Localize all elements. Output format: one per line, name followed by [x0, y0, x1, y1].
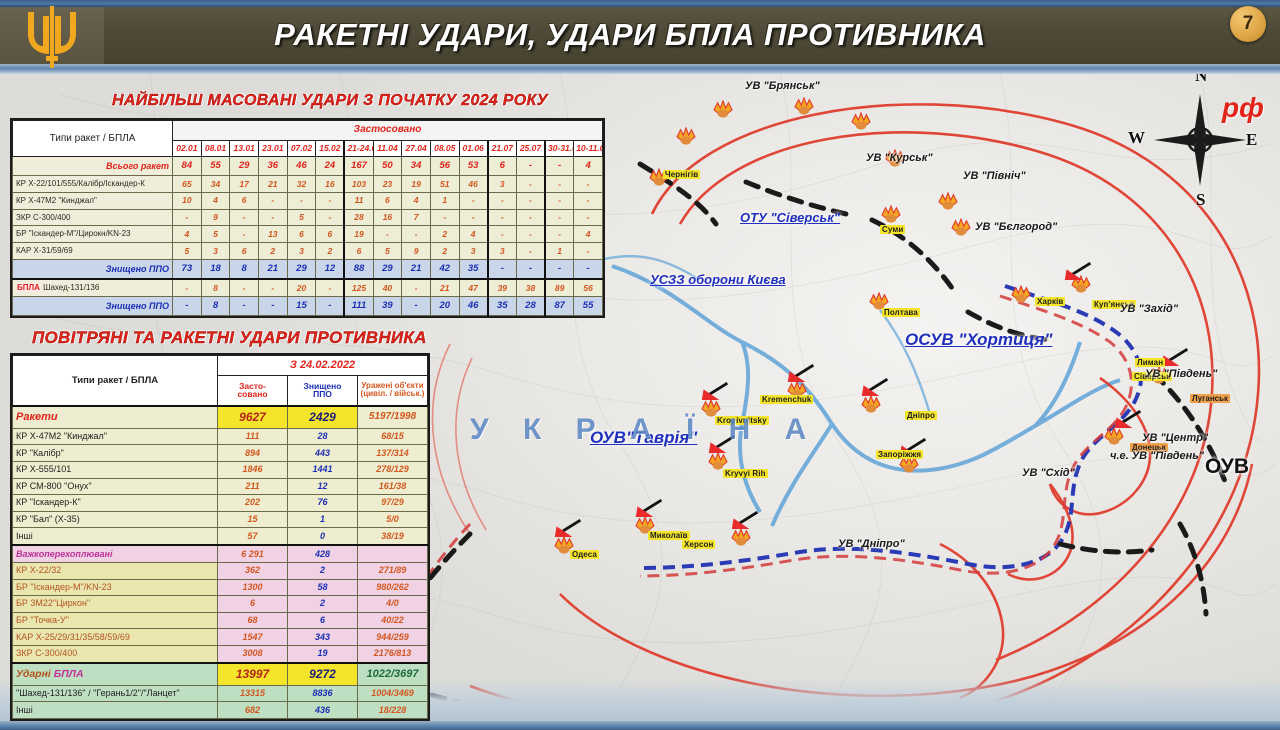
table2-cell-objects: 1004/3469 — [358, 685, 428, 702]
table1-cell: 9 — [201, 209, 230, 226]
table2-row-label: Інші — [13, 702, 218, 719]
table1-cell: - — [287, 192, 316, 209]
table1: Типи ракет / БПЛАЗастосовано02.0108.0113… — [12, 120, 603, 316]
table1-row: ЗКР С-300/400-9--5-28167------ — [13, 209, 603, 226]
table2-cell-applied: 15 — [218, 511, 288, 528]
table2-cell-objects: 4/0 — [358, 596, 428, 613]
table1-cell: 8 — [201, 297, 230, 316]
table1-cell: 3 — [459, 243, 488, 260]
table1-cell: 16 — [373, 209, 402, 226]
table1-cell: - — [516, 226, 545, 243]
table1-cell: 4 — [574, 157, 603, 176]
city-label: Одеса — [570, 544, 599, 562]
table1-cell: 18 — [201, 260, 230, 280]
enemy-group-label: УВ "Дніпро" — [838, 538, 905, 550]
table1-row: БР "Іскандер-М"/Цирокн/KN-2345-136619--2… — [13, 226, 603, 243]
page-title: РАКЕТНІ УДАРИ, УДАРИ БПЛА ПРОТИВНИКА — [180, 13, 1080, 59]
table1-cell: 42 — [430, 260, 459, 280]
table1-col-header: 07.02 — [287, 140, 316, 157]
table1-row-label: КР Х-47М2 "Кинджал" — [13, 192, 173, 209]
table1-cell: 5 — [173, 243, 202, 260]
table1-row-label: ЗКР С-300/400 — [13, 209, 173, 226]
strike-marker-icon — [1010, 285, 1030, 301]
table2-cell-objects: 38/19 — [358, 528, 428, 545]
table1-cell: 2 — [430, 226, 459, 243]
table1-cell: 19 — [344, 226, 373, 243]
table2-row-label: КР "Калібр" — [13, 445, 218, 462]
table1-cell: - — [545, 209, 574, 226]
table2-cell-destroyed: 343 — [288, 629, 358, 646]
table2-section-header: Ракети962724295197/1998 — [13, 406, 428, 428]
table2-section-applied: 13997 — [218, 663, 288, 685]
table2-row-label: КР Х-555/101 — [13, 462, 218, 479]
table1-cell: 6 — [287, 226, 316, 243]
table1-cell: - — [545, 226, 574, 243]
table1-row: КР Х-22/101/555/Калібр/Іскандер-К6534172… — [13, 175, 603, 192]
table2-section-applied: 9627 — [218, 406, 288, 428]
table1-cell: - — [373, 226, 402, 243]
table2-row: КР Х-22/323622271/89 — [13, 563, 428, 580]
table1-col-header: 08.01 — [201, 140, 230, 157]
table1-cell: - — [258, 192, 287, 209]
table1-cell: 6 — [488, 157, 517, 176]
table2-section-objects: 5197/1998 — [358, 406, 428, 428]
table1-col-header: 08.05 — [430, 140, 459, 157]
table1-col-header: 13.01 — [230, 140, 259, 157]
table1-cell: 9 — [402, 243, 431, 260]
table1-col-header: 21-24.03 — [344, 140, 373, 157]
table1-cell: 51 — [430, 175, 459, 192]
table1-cell: 24 — [316, 157, 345, 176]
table2: Типи ракет / БПЛАЗ 24.02.2022Засто-сован… — [12, 355, 428, 719]
table2-row: КР Х-555/10118461441278/129 — [13, 462, 428, 479]
table1-cell: 38 — [516, 279, 545, 297]
city-label: Харків — [1035, 291, 1065, 309]
table1-col-header: 25.07 — [516, 140, 545, 157]
unit-flag-icon — [786, 364, 812, 382]
table1-cell: 29 — [230, 157, 259, 176]
enemy-group-label: УВ "Бєлгород" — [975, 221, 1057, 233]
table1-col-header: 23.01 — [258, 140, 287, 157]
table1-cell: 21 — [402, 260, 431, 280]
table1-cell: 46 — [459, 175, 488, 192]
table1-row: КАР Х-31/59/69536232659233-1- — [13, 243, 603, 260]
table1-cell: 12 — [316, 260, 345, 280]
table1-cell: 16 — [316, 175, 345, 192]
table1-col-header: 11.04 — [373, 140, 402, 157]
table1-cell: 5 — [373, 243, 402, 260]
enemy-group-label: УВ "Схід" — [1022, 467, 1075, 479]
table1-cell: 87 — [545, 297, 574, 316]
table1-cell: - — [230, 279, 259, 297]
table1-cell: 5 — [201, 226, 230, 243]
table2-cell-applied: 68 — [218, 612, 288, 629]
table1-cell: - — [516, 260, 545, 280]
table1-cell: 55 — [201, 157, 230, 176]
table1-cell: 3 — [488, 243, 517, 260]
table1-cell: 23 — [373, 175, 402, 192]
table1-col-header: 10-11.08 — [574, 140, 603, 157]
table2-col-objects: Уражені об'єкти(цивіл. / військ.) — [358, 375, 428, 406]
table2-cell-destroyed: 58 — [288, 579, 358, 596]
table2-cell-applied: 362 — [218, 563, 288, 580]
table2-cell-applied: 13315 — [218, 685, 288, 702]
table1-panel: Типи ракет / БПЛАЗастосовано02.0108.0113… — [10, 118, 605, 318]
table1-cell: - — [173, 209, 202, 226]
enemy-group-label: УВ "Брянськ" — [745, 80, 820, 92]
table1-cell: - — [516, 209, 545, 226]
table1-cell: - — [488, 226, 517, 243]
table1-cell: 35 — [488, 297, 517, 316]
table2-row-label: КР "Бал" (Х-35) — [13, 511, 218, 528]
table1-cell: 4 — [201, 192, 230, 209]
table2-cell-objects: 271/89 — [358, 563, 428, 580]
table2-cell-destroyed: 28 — [288, 428, 358, 445]
table1-cell: 21 — [258, 260, 287, 280]
table2-section-objects — [358, 545, 428, 562]
table1-row: БПЛА Шахед-131/136-8--20-12540-214739388… — [13, 279, 603, 297]
table1-col-header: 27.04 — [402, 140, 431, 157]
table2-row: КР "Бал" (Х-35)1515/0 — [13, 511, 428, 528]
table1-cell: - — [316, 209, 345, 226]
table1-col-header: 21.07 — [488, 140, 517, 157]
table1-cell: 20 — [287, 279, 316, 297]
enemy-group-label: УВ "Північ" — [963, 170, 1026, 182]
table1-cell: 6 — [344, 243, 373, 260]
table1-row-label: Знищено ППО — [13, 297, 173, 316]
table1-cell: 167 — [344, 157, 373, 176]
table1-cell: 3 — [287, 243, 316, 260]
unit-flag-icon — [1113, 410, 1139, 428]
table1-cell: 20 — [430, 297, 459, 316]
table2-row-label: БР "Точка-У" — [13, 612, 218, 629]
table1-cell: 15 — [287, 297, 316, 316]
table1-cell: 29 — [373, 260, 402, 280]
table1-cell: - — [316, 279, 345, 297]
compass-south-label: S — [1196, 190, 1205, 210]
table2-section-destroyed: 428 — [288, 545, 358, 562]
table1-row: Знищено ППО-8--15-11139-204635288755 — [13, 297, 603, 316]
own-group-label: УСЗЗ оборони Києва — [650, 272, 786, 287]
table2-cell-destroyed: 0 — [288, 528, 358, 545]
table2-cell-destroyed: 2 — [288, 596, 358, 613]
strike-marker-icon — [675, 127, 695, 143]
table2-cell-objects: 137/314 — [358, 445, 428, 462]
table2-row-label: КАР Х-25/29/31/35/58/59/69 — [13, 629, 218, 646]
table1-cell: 125 — [344, 279, 373, 297]
table1-cell: 4 — [402, 192, 431, 209]
table2-row: КР "Іскандер-К"2027697/29 — [13, 495, 428, 512]
table1-cell: 10 — [173, 192, 202, 209]
table2-section-objects: 1022/3697 — [358, 663, 428, 685]
table2-cell-applied: 6 — [218, 596, 288, 613]
enemy-group-label: УВ "Курськ" — [866, 152, 933, 164]
table1-cell: - — [230, 209, 259, 226]
table2-row-label: КР СМ-800 "Онух" — [13, 478, 218, 495]
table1-cell: - — [574, 175, 603, 192]
unit-flag-icon — [730, 511, 756, 529]
table2-cell-objects: 97/29 — [358, 495, 428, 512]
header-bottom-strip — [0, 64, 1280, 74]
table2-cell-destroyed: 2 — [288, 563, 358, 580]
table2-col-destroyed: ЗнищеноППО — [288, 375, 358, 406]
table1-cell: 17 — [230, 175, 259, 192]
table1-cell: 8 — [201, 279, 230, 297]
table2-cell-applied: 3008 — [218, 645, 288, 662]
table1-cell: - — [258, 297, 287, 316]
table2-section-header: Ударні БПЛА1399792721022/3697 — [13, 663, 428, 685]
city-label: Kryvyi Rih — [723, 463, 768, 481]
enemy-group-label: УВ "Південь" — [1145, 368, 1217, 380]
table2-row: БР "Іскандер-М"/KN-23130058980/262 — [13, 579, 428, 596]
table1-cell: - — [545, 175, 574, 192]
table1-cell: 4 — [574, 226, 603, 243]
city-label: Луганськ — [1190, 388, 1230, 406]
city-label: Чернігів — [663, 164, 700, 182]
table1-cell: 6 — [316, 226, 345, 243]
table1-cell: 39 — [373, 297, 402, 316]
table2-cell-applied: 57 — [218, 528, 288, 545]
table1-cell: 11 — [344, 192, 373, 209]
table1-cell: 84 — [173, 157, 202, 176]
table1-cell: - — [488, 260, 517, 280]
table1-cell: 5 — [287, 209, 316, 226]
table2-cell-applied: 111 — [218, 428, 288, 445]
table1-cell: 28 — [516, 297, 545, 316]
table2-row: КАР Х-25/29/31/35/58/59/691547343944/259 — [13, 629, 428, 646]
table2-section-label: Ракети — [13, 406, 218, 428]
table2-cell-destroyed: 6 — [288, 612, 358, 629]
city-label: Полтава — [882, 302, 920, 320]
table1-cell: 40 — [373, 279, 402, 297]
table1-cell: 73 — [173, 260, 202, 280]
table1-title: НАЙБІЛЬШ МАСОВАНІ УДАРИ З ПОЧАТКУ 2024 Р… — [112, 92, 548, 110]
ukraine-trident-icon — [24, 6, 80, 68]
table2-cell-objects: 5/0 — [358, 511, 428, 528]
table2-row: Інші68243618/228 — [13, 702, 428, 719]
table1-cell: 111 — [344, 297, 373, 316]
table1-cell: 21 — [430, 279, 459, 297]
table1-cell: 56 — [430, 157, 459, 176]
strike-marker-icon — [793, 97, 813, 113]
city-label: Херсон — [682, 534, 715, 552]
table2-row-label: "Шахед-131/136" / "Герань1/2"/"Ланцет" — [13, 685, 218, 702]
table1-cell: 2 — [258, 243, 287, 260]
strike-marker-icon — [712, 100, 732, 116]
table1-cell: - — [574, 260, 603, 280]
header-top-strip — [0, 0, 1280, 7]
country-label: У К Р А Ї Н А — [470, 413, 819, 447]
table1-cell: 3 — [488, 175, 517, 192]
table2-cell-objects: 980/262 — [358, 579, 428, 596]
table1-cell: - — [574, 192, 603, 209]
enemy-group-label: ч.е. УВ "Південь" — [1110, 450, 1204, 462]
table1-row-label: КАР Х-31/59/69 — [13, 243, 173, 260]
table2-cell-objects: 40/22 — [358, 612, 428, 629]
table2-cell-destroyed: 19 — [288, 645, 358, 662]
compass-west-label: W — [1128, 128, 1145, 148]
table1-cell: 2 — [430, 243, 459, 260]
city-label: Суми — [880, 219, 905, 237]
table1-cell: 39 — [488, 279, 517, 297]
table1-cell: 1 — [545, 243, 574, 260]
table1-cell: 55 — [574, 297, 603, 316]
table1-row-label: КР Х-22/101/555/Калібр/Іскандер-К — [13, 175, 173, 192]
unit-flag-icon — [860, 378, 886, 396]
table1-cell: 50 — [373, 157, 402, 176]
table1-cell: 65 — [173, 175, 202, 192]
table2-row-label: КР Х-22/32 — [13, 563, 218, 580]
table1-cell: 29 — [287, 260, 316, 280]
unit-flag-icon — [553, 519, 579, 537]
table1-cell: 35 — [459, 260, 488, 280]
table2-cell-destroyed: 436 — [288, 702, 358, 719]
table2-cell-applied: 682 — [218, 702, 288, 719]
table1-cell: - — [545, 192, 574, 209]
table2-cell-destroyed: 12 — [288, 478, 358, 495]
table2-cell-applied: 211 — [218, 478, 288, 495]
table1-cell: 34 — [201, 175, 230, 192]
city-label: Запоріжжя — [876, 444, 923, 462]
table2-row: КР Х-47М2 "Кинджал"1112868/15 — [13, 428, 428, 445]
table2-row: КР СМ-800 "Онух"21112161/38 — [13, 478, 428, 495]
table2-cell-destroyed: 1441 — [288, 462, 358, 479]
table1-row-label: Знищено ППО — [13, 260, 173, 280]
table1-cell: - — [459, 192, 488, 209]
table2-cell-objects: 944/259 — [358, 629, 428, 646]
table2-cell-applied: 1547 — [218, 629, 288, 646]
table1-cell: 13 — [258, 226, 287, 243]
table1-col-header: 02.01 — [173, 140, 202, 157]
table1-cell: 4 — [459, 226, 488, 243]
city-label: Kremenchuk — [760, 389, 813, 407]
table2-row: БР 3М22"Циркон"624/0 — [13, 596, 428, 613]
table2-cell-destroyed: 76 — [288, 495, 358, 512]
table2-cell-objects: 2176/813 — [358, 645, 428, 662]
table2-section-header: Важкоперехоплювані6 291428 — [13, 545, 428, 562]
table1-row: Знищено ППО731882129128829214235---- — [13, 260, 603, 280]
table2-panel: Типи ракет / БПЛАЗ 24.02.2022Засто-сован… — [10, 353, 430, 721]
strike-marker-icon — [850, 112, 870, 128]
unit-flag-icon — [634, 499, 660, 517]
table1-col-header: 30-31.07 — [545, 140, 574, 157]
compass-rose-icon — [1150, 90, 1250, 190]
table1-row-label: Всього ракет — [13, 157, 173, 176]
table2-row: Інші57038/19 — [13, 528, 428, 545]
table2-row: ЗКР С-300/4003008192176/813 — [13, 645, 428, 662]
table2-period-header: З 24.02.2022 — [218, 356, 428, 376]
table1-cell: - — [173, 297, 202, 316]
table2-title: ПОВІТРЯНІ ТА РАКЕТНІ УДАРИ ПРОТИВНИКА — [32, 328, 427, 348]
table2-row-label: БР "Іскандер-М"/KN-23 — [13, 579, 218, 596]
table1-cell: - — [574, 209, 603, 226]
table1-cell: 32 — [287, 175, 316, 192]
table1-cell: - — [430, 209, 459, 226]
table1-cell: 28 — [344, 209, 373, 226]
table1-row-label: БПЛА Шахед-131/136 — [13, 279, 173, 297]
table2-cell-destroyed: 8836 — [288, 685, 358, 702]
table2-section-applied: 6 291 — [218, 545, 288, 562]
table2-row: КР "Калібр"894443137/314 — [13, 445, 428, 462]
table2-cell-applied: 1300 — [218, 579, 288, 596]
table2-cell-applied: 1846 — [218, 462, 288, 479]
city-label: Дніпро — [905, 405, 937, 423]
table2-cell-destroyed: 1 — [288, 511, 358, 528]
table1-cell: - — [545, 157, 574, 176]
table2-row-label: ЗКР С-300/400 — [13, 645, 218, 662]
table2-row: БР "Точка-У"68640/22 — [13, 612, 428, 629]
table1-cell: - — [230, 226, 259, 243]
table1-cell: - — [545, 260, 574, 280]
table1-cell: - — [459, 209, 488, 226]
table1-cell: 19 — [402, 175, 431, 192]
table1-cell: - — [402, 226, 431, 243]
table2-row-label: Інші — [13, 528, 218, 545]
table1-cell: - — [316, 297, 345, 316]
table2-cell-destroyed: 443 — [288, 445, 358, 462]
table1-cell: 6 — [230, 192, 259, 209]
table1-cell: 21 — [258, 175, 287, 192]
page-number-badge[interactable]: 7 — [1230, 6, 1266, 42]
compass-east-label: E — [1246, 130, 1257, 150]
table2-section-destroyed: 2429 — [288, 406, 358, 428]
table1-cell: - — [402, 279, 431, 297]
table2-cell-applied: 894 — [218, 445, 288, 462]
table1-row-label: БР "Іскандер-М"/Цирокн/KN-23 — [13, 226, 173, 243]
table1-cell: 36 — [258, 157, 287, 176]
table1-cell: - — [258, 279, 287, 297]
table2-cell-objects: 278/129 — [358, 462, 428, 479]
table1-cell: 103 — [344, 175, 373, 192]
table1-cell: - — [516, 243, 545, 260]
table1-cell: - — [488, 192, 517, 209]
table2-cell-objects: 161/38 — [358, 478, 428, 495]
table1-cell: - — [230, 297, 259, 316]
table1-cell: 7 — [402, 209, 431, 226]
strike-marker-icon — [950, 218, 970, 234]
table1-cell: 4 — [173, 226, 202, 243]
table2-cell-objects: 68/15 — [358, 428, 428, 445]
table1-cell: 3 — [201, 243, 230, 260]
table1-cell: 34 — [402, 157, 431, 176]
table1-cell: 56 — [574, 279, 603, 297]
table1-cell: 6 — [373, 192, 402, 209]
enemy-group-label: УВ "Центр" — [1142, 432, 1208, 444]
table1-row: Всього ракет845529364624167503456536--4 — [13, 157, 603, 176]
table1-cell: 47 — [459, 279, 488, 297]
table2-corner-header: Типи ракет / БПЛА — [13, 356, 218, 407]
table1-col-header: 01.06 — [459, 140, 488, 157]
table2-section-destroyed: 9272 — [288, 663, 358, 685]
table1-cell: - — [516, 157, 545, 176]
table1-cell: - — [173, 279, 202, 297]
table1-col-header: 15.02 — [316, 140, 345, 157]
table1-span-header: Застосовано — [173, 121, 603, 141]
table1-cell: 46 — [459, 297, 488, 316]
table2-section-label: Важкоперехоплювані — [13, 545, 218, 562]
table1-cell: 46 — [287, 157, 316, 176]
footer-strip — [0, 721, 1280, 730]
table2-row-label: БР 3М22"Циркон" — [13, 596, 218, 613]
table1-cell: 53 — [459, 157, 488, 176]
strike-marker-icon — [937, 192, 957, 208]
unit-flag-icon — [1063, 262, 1089, 280]
table1-corner-header: Типи ракет / БПЛА — [13, 121, 173, 157]
table2-row-label: КР "Іскандер-К" — [13, 495, 218, 512]
table1-cell: 88 — [344, 260, 373, 280]
table2-row-label: КР Х-47М2 "Кинджал" — [13, 428, 218, 445]
table1-cell: - — [488, 209, 517, 226]
